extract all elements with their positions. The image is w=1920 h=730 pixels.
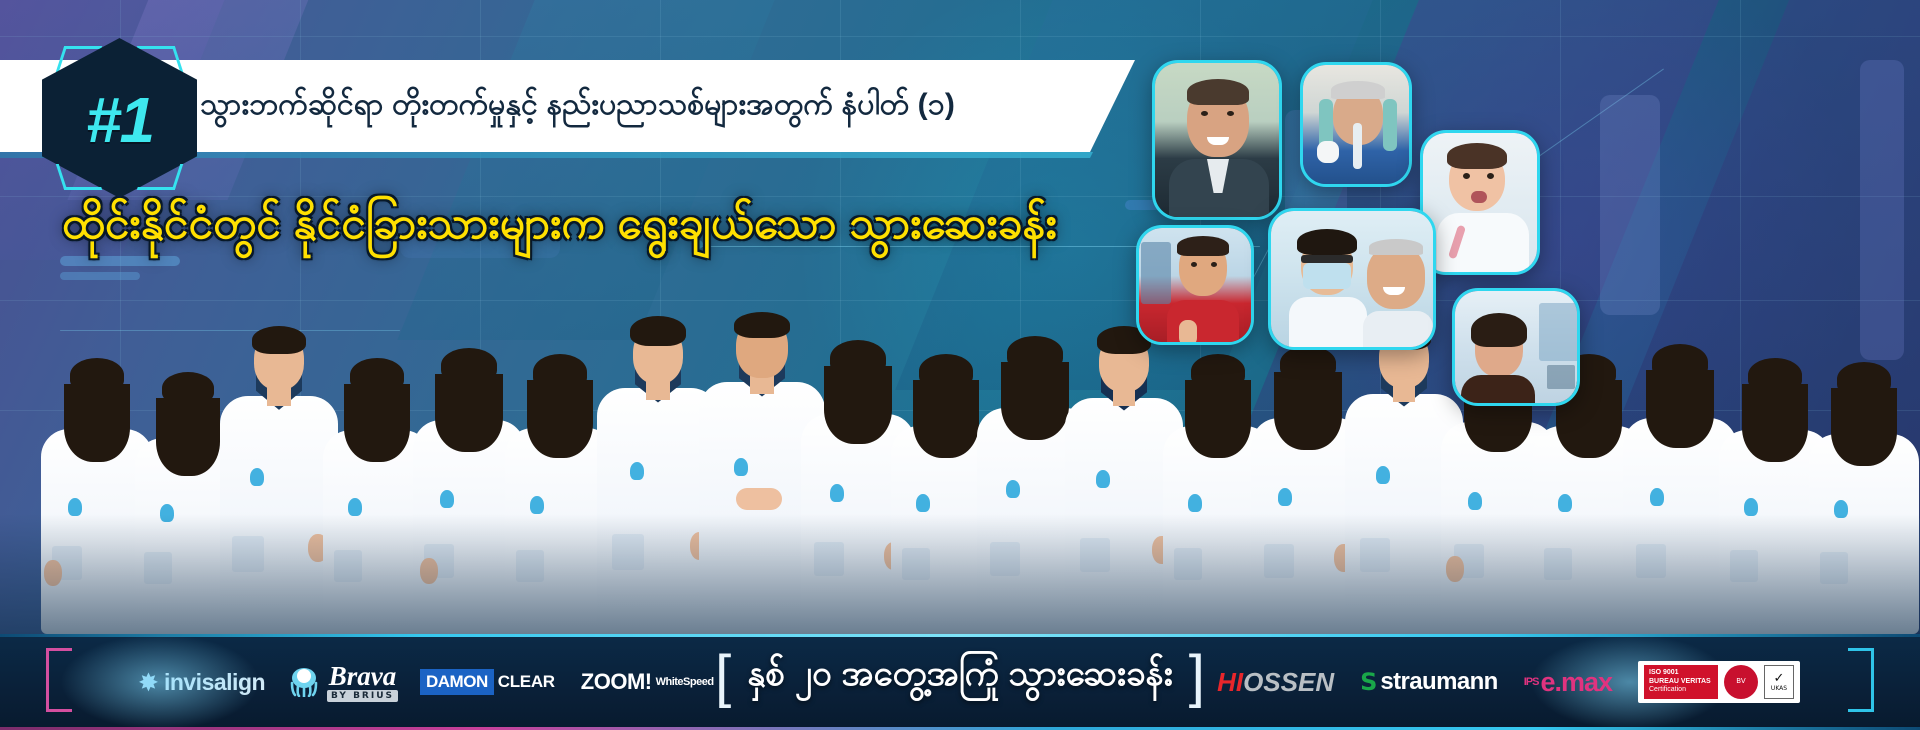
invisalign-star-icon: ✸ <box>138 668 159 697</box>
bar-corner-bracket-left <box>46 648 72 712</box>
bar-top-accent-line <box>0 634 1920 637</box>
badge-bracket-bottom-right <box>137 164 183 190</box>
hiossen-logo-text-hi: HI <box>1217 667 1243 698</box>
octopus-icon <box>287 667 321 697</box>
iso-line-2: BUREAU VERITAS <box>1649 678 1713 687</box>
hiossen-logo: HIOSSEN <box>1217 662 1334 702</box>
invisalign-logo: ✸ invisalign <box>138 662 265 702</box>
bottom-logo-bar: ✸ invisalign Brava BY BRIUS DAMON <box>0 634 1920 730</box>
grid-line <box>0 36 1920 37</box>
emax-logo-text: e.max <box>1540 667 1612 698</box>
badge-bracket-bottom-left <box>56 164 102 190</box>
photo-card-dentist-senior-patient <box>1268 208 1436 350</box>
ukas-label: UKAS <box>1771 686 1787 693</box>
straumann-logo-text: straumann <box>1380 668 1497 696</box>
bureau-veritas-block: ISO 9001 BUREAU VERITAS Certification <box>1644 665 1718 699</box>
bar-corner-bracket-right <box>1848 648 1874 712</box>
clear-logo-text: CLEAR <box>494 669 559 695</box>
damon-logo-text: DAMON <box>420 669 494 695</box>
top-banner-text: သွားဘက်ဆိုင်ရာ တိုးတက်မှုနှင့် နည်းပညာသစ… <box>200 84 955 129</box>
iso-line-1: ISO 9001 <box>1649 669 1713 678</box>
rank-badge: #1 <box>42 38 197 198</box>
brava-logo-subtext: BY BRIUS <box>327 690 398 702</box>
photo-card-male-patient <box>1152 60 1282 220</box>
bureau-veritas-seal-icon: BV <box>1724 665 1758 699</box>
bracket-left: [ <box>715 648 731 706</box>
invisalign-logo-text: invisalign <box>164 669 265 696</box>
photo-card-patient-xray-station <box>1452 288 1580 406</box>
ukas-accreditation-icon: ✓ UKAS <box>1764 665 1794 699</box>
slogan-text: နှစ် ၂၀ အတွေ့အကြုံ သွားဆေးခန်း <box>747 651 1172 703</box>
straumann-logo: S straumann <box>1360 662 1498 702</box>
zoom-logo-text: ZOOM! <box>581 669 652 695</box>
photo-card-child-patient <box>1420 130 1540 275</box>
damon-clear-logo: DAMON CLEAR <box>420 662 559 702</box>
partner-logos-left: ✸ invisalign Brava BY BRIUS DAMON <box>138 662 714 702</box>
iso-line-3: Certification <box>1649 686 1713 695</box>
bottom-center-slogan: [ နှစ် ၂၀ အတွေ့အကြုံ သွားဆေးခန်း ] <box>715 648 1205 706</box>
partner-logos-right: HIOSSEN S straumann IPSe.max ISO 9001 BU… <box>1217 661 1800 703</box>
hiossen-logo-text-ossen: OSSEN <box>1243 667 1334 698</box>
bracket-right: ] <box>1189 648 1205 706</box>
brava-logo: Brava BY BRIUS <box>287 662 398 702</box>
zoom-whitespeed-logo: ZOOM! WhiteSpeed <box>581 662 714 702</box>
iso-certification-badge: ISO 9001 BUREAU VERITAS Certification BV… <box>1638 661 1800 703</box>
straumann-mark-icon: S <box>1360 668 1377 696</box>
main-headline: ထိုင်းနိုင်ငံတွင် နိုင်ငံခြားသားများက ရွ… <box>62 196 1057 260</box>
ips-prefix-text: IPS <box>1524 676 1539 688</box>
photo-card-man-red-shirt <box>1136 225 1254 345</box>
whitespeed-logo-subtext: WhiteSpeed <box>656 676 714 688</box>
dental-clinic-banner: သွားဘက်ဆိုင်ရာ တိုးတက်မှုနှင့် နည်းပညာသစ… <box>0 0 1920 730</box>
ips-emax-logo: IPSe.max <box>1524 662 1612 702</box>
dental-team-group-photo <box>0 204 1920 634</box>
photo-card-elderly-patient-chair <box>1300 62 1412 187</box>
badge-number-label: #1 <box>86 83 153 157</box>
brava-logo-text: Brava <box>329 663 397 690</box>
staff-member <box>1806 344 1920 634</box>
